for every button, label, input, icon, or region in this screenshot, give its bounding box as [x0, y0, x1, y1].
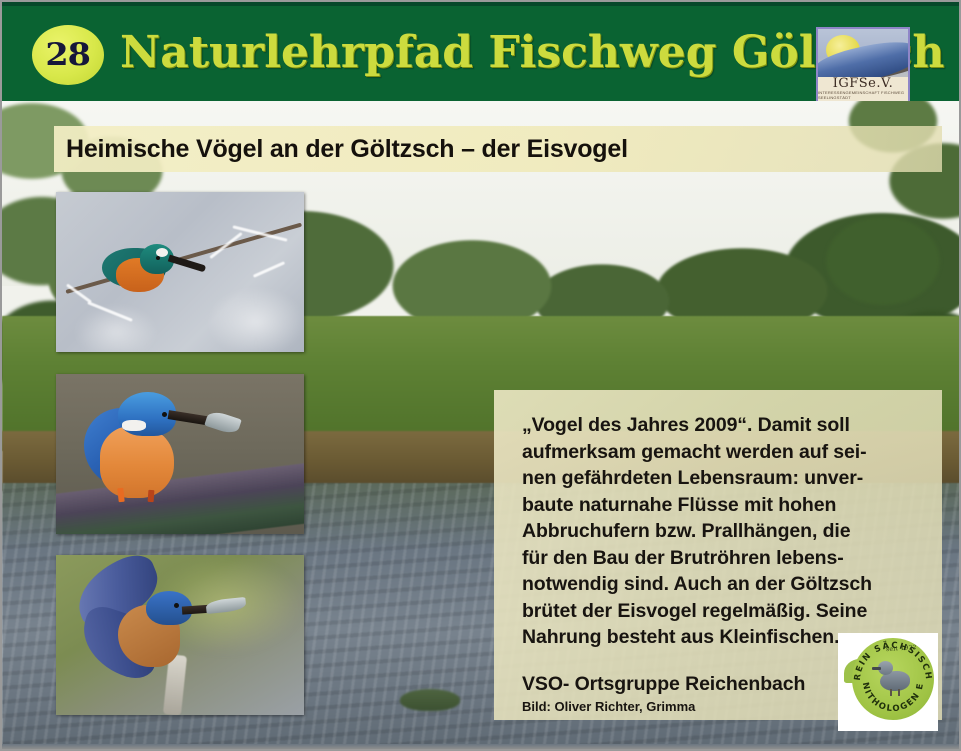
vso-emblem: VEREIN SÄCHSISCHER ORNITHOLOGEN E.V. sei… [838, 633, 938, 731]
igf-logo-subtitle: INTERESSENGEMEINSCHAFT FISCHWEG SEELINGS… [818, 90, 908, 100]
bird-bill [872, 667, 881, 670]
photo-kingfisher-with-fish [56, 374, 304, 534]
igf-logo: IGFSe.V. INTERESSENGEMEINSCHAFT FISCHWEG… [816, 27, 910, 101]
kingfisher-leg [148, 490, 155, 502]
section-title-band: Heimische Vögel an der Göltzsch – der Ei… [54, 126, 942, 172]
photo-kingfisher-in-flight [56, 555, 304, 715]
kingfisher-eye [174, 603, 179, 608]
header-top-edge [2, 2, 961, 6]
kingfisher-eye [162, 412, 167, 417]
kingfisher-breast [100, 426, 174, 498]
igf-logo-caption: IGFSe.V. INTERESSENGEMEINSCHAFT FISCHWEG… [818, 77, 908, 101]
bird-leg [890, 689, 892, 696]
midstream-rock [400, 689, 460, 711]
panel-body-text: „Vogel des Jahres 2009“. Damit soll aufm… [522, 412, 920, 651]
bird-leg [898, 689, 900, 696]
bottom-edge [2, 744, 961, 749]
igf-logo-name: IGFSe.V. [833, 78, 894, 90]
photo-kingfisher-on-frosty-branch [56, 192, 304, 352]
section-title: Heimische Vögel an der Göltzsch – der Ei… [66, 135, 628, 164]
station-number-badge: 28 [32, 25, 104, 85]
information-board: 28 Naturlehrpfad Fischweg Göltzsch IGFSe… [0, 0, 961, 751]
bird-icon [878, 659, 914, 697]
header-banner: 28 Naturlehrpfad Fischweg Göltzsch IGFSe… [2, 2, 961, 101]
kingfisher-eye [156, 256, 160, 260]
station-number: 28 [46, 40, 90, 71]
kingfisher-cheek-patch [122, 420, 146, 431]
